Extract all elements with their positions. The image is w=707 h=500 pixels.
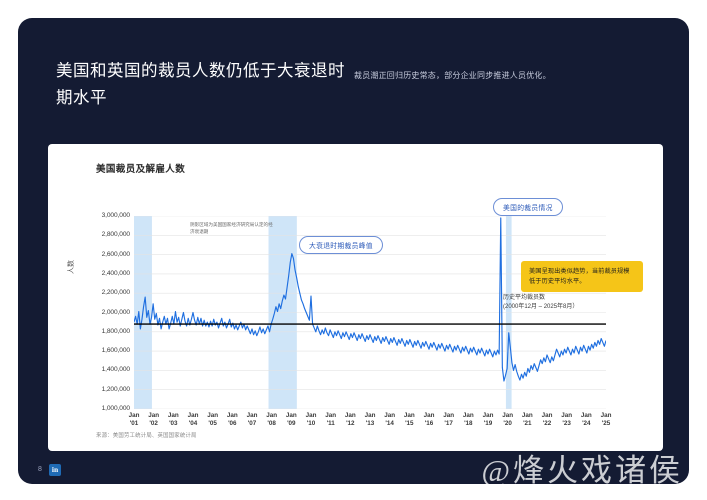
y-tick-label: 2,200,000 (102, 289, 130, 296)
chart-card: 美国裁员及解雇人数 人数 3,000,0002,800,0002,600,000… (48, 144, 663, 451)
linkedin-icon[interactable]: in (49, 464, 61, 476)
y-tick-label: 2,000,000 (102, 309, 130, 316)
average-line-label: 历史平均裁员数 (2000年12月 – 2025年8月） (503, 294, 578, 312)
slide: 美国和英国的裁员人数仍低于大衰退时期水平 裁员潮正回归历史常态，部分企业同步推进… (18, 18, 689, 484)
y-tick-label: 1,400,000 (102, 366, 130, 373)
x-tick-label: Jan'25 (593, 412, 619, 428)
watermark: @烽火戏诸侯 (481, 445, 683, 484)
y-tick-label: 2,600,000 (102, 251, 130, 258)
y-tick-label: 2,800,000 (102, 231, 130, 238)
annotation-us-layoffs: 美国的裁员情况 (493, 198, 563, 216)
recession-shade-note: 阴影区域为美国国家经济研究局认定的经济衰退期 (190, 222, 276, 235)
average-line-label-line2: (2000年12月 – 2025年8月） (503, 303, 578, 312)
x-axis-tick-labels: Jan'01Jan'02Jan'03Jan'04Jan'05Jan'06Jan'… (134, 412, 606, 434)
page-title: 美国和英国的裁员人数仍低于大衰退时期水平 (56, 58, 346, 112)
y-tick-label: 1,000,000 (102, 405, 130, 412)
annotation-recession-peak: 大衰退时期裁员峰值 (299, 236, 383, 254)
annotation-yellow-callout: 美国呈现出类似趋势，当前裁员规模低于历史平均水平。 (521, 261, 643, 292)
y-tick-label: 2,400,000 (102, 270, 130, 277)
y-tick-label: 1,600,000 (102, 347, 130, 354)
page-subtitle: 裁员潮正回归历史常态，部分企业同步推进人员优化。 (354, 70, 654, 83)
y-tick-label: 3,000,000 (102, 212, 130, 219)
chart-source: 来源：美国劳工统计局、英国国家统计局 (96, 431, 197, 439)
chart-title: 美国裁员及解雇人数 (96, 161, 185, 175)
y-axis-tick-labels: 3,000,0002,800,0002,600,0002,400,0002,20… (74, 210, 130, 415)
y-tick-label: 1,200,000 (102, 386, 130, 393)
average-line-label-line1: 历史平均裁员数 (503, 294, 578, 303)
page-number: 8 (38, 466, 42, 473)
y-tick-label: 1,800,000 (102, 328, 130, 335)
